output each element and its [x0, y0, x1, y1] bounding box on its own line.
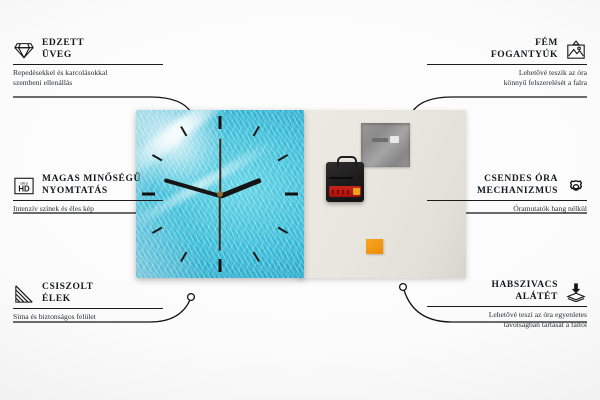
infographic-canvas: EDZETT ÜVEG Repedésekkel és karcolásokka… — [0, 0, 600, 400]
callout-title: HABSZIVACS ALÁTÉT — [491, 280, 558, 303]
callout-high-quality-print: ultra HD MAGAS MINŐSÉGŰ NYOMTATÁS Intenz… — [13, 174, 163, 214]
clock-tick — [285, 193, 298, 196]
callout-silent-mechanism: CSENDES ÓRA MECHANIZMUS Óramutatók hang … — [427, 174, 587, 214]
callout-title: CSENDES ÓRA MECHANIZMUS — [477, 174, 558, 197]
callout-subtitle: Sima és biztonságos felület — [13, 312, 163, 322]
callout-divider — [13, 64, 163, 65]
ultra-hd-icon: ultra HD — [13, 176, 35, 196]
callout-title: CSISZOLT ÉLEK — [42, 282, 93, 305]
sanded-edges-icon — [13, 284, 35, 304]
callout-divider — [427, 200, 587, 201]
picture-hanger-icon — [565, 40, 587, 60]
callout-foam-pad: HABSZIVACS ALÁTÉT Lehetővé teszi az óra … — [427, 280, 587, 329]
mechanism-handle — [337, 156, 357, 167]
metal-hanger-part — [361, 123, 410, 167]
callout-divider — [13, 200, 163, 201]
callout-header: EDZETT ÜVEG — [13, 38, 163, 61]
callout-header: ultra HD MAGAS MINŐSÉGŰ NYOMTATÁS — [13, 174, 163, 197]
clock-pivot — [217, 191, 223, 197]
gear-icon — [565, 176, 587, 196]
callout-divider — [427, 306, 587, 307]
battery-part — [329, 186, 361, 197]
foam-pad-icon — [565, 282, 587, 302]
clock-tick — [219, 116, 222, 129]
endpoint-dot-polished-edges — [188, 294, 195, 301]
callout-header: HABSZIVACS ALÁTÉT — [427, 280, 587, 303]
diamond-icon — [13, 40, 35, 60]
callout-header: FÉM FOGANTYÚK — [427, 38, 587, 61]
endpoint-dot-foam-pad — [400, 284, 407, 291]
battery-label — [332, 190, 352, 194]
callout-subtitle: Repedésekkel és karcolásokkal szembeni e… — [13, 68, 163, 87]
callout-divider — [13, 308, 163, 309]
callout-metal-handles: FÉM FOGANTYÚK Lehetővé teszik az óra kön… — [427, 38, 587, 87]
callout-tempered-glass: EDZETT ÜVEG Repedésekkel és karcolásokka… — [13, 38, 163, 87]
product-photo — [136, 110, 466, 278]
battery-plus-terminal — [353, 188, 360, 195]
clock-mechanism-part — [326, 162, 364, 202]
callout-subtitle: Lehetővé teszi az óra egyenletes távolsá… — [427, 310, 587, 329]
callout-polished-edges: CSISZOLT ÉLEK Sima és biztonságos felüle… — [13, 282, 163, 322]
callout-header: CSENDES ÓRA MECHANIZMUS — [427, 174, 587, 197]
callout-title: MAGAS MINŐSÉGŰ NYOMTATÁS — [42, 174, 141, 197]
callout-divider — [427, 64, 587, 65]
callout-title: EDZETT ÜVEG — [42, 38, 84, 61]
callout-header: CSISZOLT ÉLEK — [13, 282, 163, 305]
mechanism-slot — [329, 177, 353, 179]
callout-subtitle: Lehetővé teszik az óra könnyű felszerelé… — [427, 68, 587, 87]
second-hand — [219, 195, 221, 251]
foam-pad-part — [366, 239, 383, 254]
ultra-hd-icon-bottom: HD — [18, 184, 30, 193]
callout-subtitle: Intenzív színek és éles kép — [13, 204, 163, 214]
callout-subtitle: Óramutatók hang nélkül — [427, 204, 587, 214]
second-hand-tail — [219, 139, 221, 195]
callout-title: FÉM FOGANTYÚK — [491, 38, 558, 61]
clock-tick — [219, 259, 222, 272]
